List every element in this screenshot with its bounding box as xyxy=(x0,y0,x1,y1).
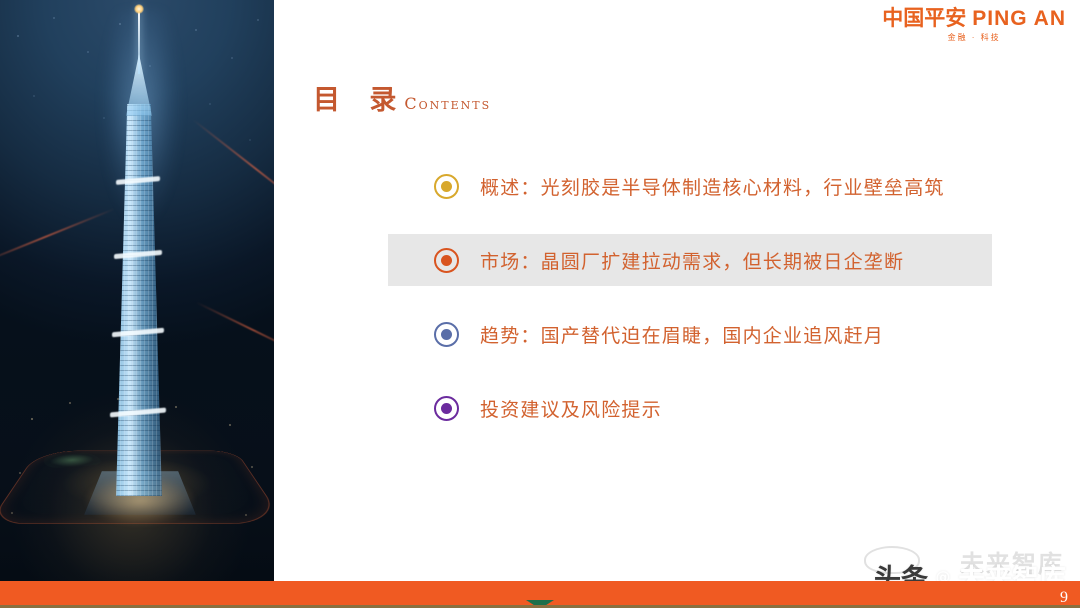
spire-beacon-light xyxy=(134,4,144,14)
page-number: 9 xyxy=(1060,589,1068,607)
logo-brand-en: PING AN xyxy=(972,7,1066,30)
contents-item-overview[interactable]: 概述：光刻胶是半导体制造核心材料，行业壁垒高筑 xyxy=(388,160,992,212)
watermark-ghost-face-icon xyxy=(864,546,920,574)
page-title: 目 录CONTENTS xyxy=(313,78,491,117)
watermark-ghost-text: 未来智库 xyxy=(960,544,1064,579)
page-title-en-cap: C xyxy=(404,89,418,115)
contents-item-investment[interactable]: 投资建议及风险提示 xyxy=(388,382,992,434)
tower-spire xyxy=(138,6,140,74)
skyscraper-photo xyxy=(0,0,274,581)
slide-canvas: 中国平安PING AN 金融 · 科技 目 录CONTENTS 概述：光刻胶是半… xyxy=(0,0,1080,608)
bullet-icon xyxy=(434,396,459,421)
bullet-icon xyxy=(434,248,459,273)
contents-item-trend[interactable]: 趋势：国产替代迫在眉睫，国内企业追风赶月 xyxy=(388,308,992,360)
contents-item-label: 市场：晶圆厂扩建拉动需求，但长期被日企垄断 xyxy=(480,247,904,274)
logo-brand-cn: 中国平安 xyxy=(882,7,966,30)
bullet-icon xyxy=(434,322,459,347)
contents-item-market[interactable]: 市场：晶圆厂扩建拉动需求，但长期被日企垄断 xyxy=(388,234,992,286)
logo-wordmark: 中国平安PING AN xyxy=(882,8,1066,29)
footer-bar: 9 xyxy=(0,581,1080,608)
bullet-icon xyxy=(434,174,459,199)
street-lights xyxy=(0,393,274,563)
page-title-en: CONTENTS xyxy=(404,95,491,113)
contents-list: 概述：光刻胶是半导体制造核心材料，行业壁垒高筑 市场：晶圆厂扩建拉动需求，但长期… xyxy=(388,160,992,456)
contents-item-label: 趋势：国产替代迫在眉睫，国内企业追风赶月 xyxy=(480,321,884,348)
page-title-en-rest: ONTENTS xyxy=(419,95,492,113)
contents-item-label: 概述：光刻胶是半导体制造核心材料，行业壁垒高筑 xyxy=(480,173,945,200)
pingan-logo: 中国平安PING AN 金融 · 科技 xyxy=(882,8,1066,42)
contents-item-label: 投资建议及风险提示 xyxy=(480,395,662,422)
logo-subtitle: 金融 · 科技 xyxy=(882,34,1066,42)
page-title-cn: 目 录 xyxy=(313,85,406,116)
